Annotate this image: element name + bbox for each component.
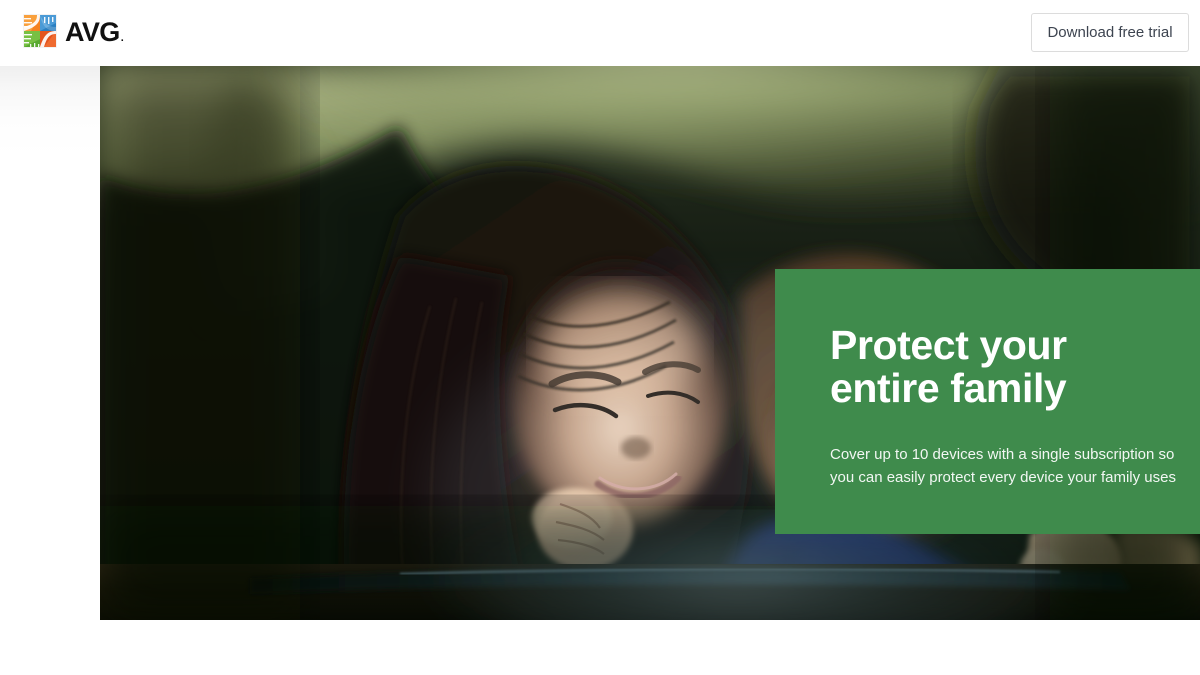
left-gutter-band [0,66,100,620]
brand-trademark: . [121,32,123,44]
hero-section: Protect your entire family Cover up to 1… [100,66,1200,620]
brand-name: AVG. [65,19,122,46]
promo-body-text: Cover up to 10 devices with a single sub… [830,443,1200,489]
promo-heading: Protect your entire family [830,324,1160,410]
download-free-trial-button[interactable]: Download free trial [1031,13,1189,52]
avg-shield-pinwheel-logo-icon [22,13,58,49]
site-header: AVG. Download free trial [0,0,1200,66]
avg-landing-page: AVG. Download free trial [0,0,1200,675]
promo-panel: Protect your entire family Cover up to 1… [775,269,1200,534]
brand-logo[interactable]: AVG. [22,11,122,51]
